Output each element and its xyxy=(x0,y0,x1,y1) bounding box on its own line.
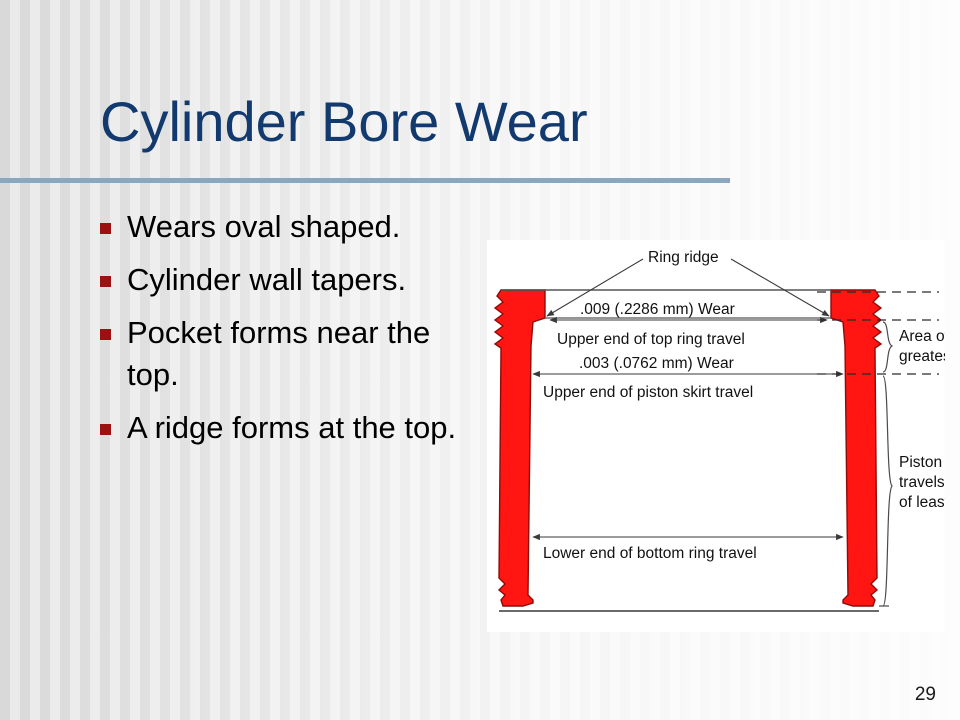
label-piston-skirt-line3: of least wear xyxy=(899,494,945,511)
label-ring-ridge: Ring ridge xyxy=(648,249,719,266)
right-cylinder-wall xyxy=(831,290,881,606)
list-item: Pocket forms near the top. xyxy=(100,312,470,396)
label-piston-skirt-line2: travels in area xyxy=(899,474,945,491)
label-wear-009: .009 (.2286 mm) Wear xyxy=(580,301,735,318)
label-lower-bottom-ring-travel: Lower end of bottom ring travel xyxy=(543,545,757,562)
label-area-greatest-wear-line1: Area of xyxy=(899,328,945,345)
brace-piston-skirt-least-wear xyxy=(883,376,892,606)
bullet-square-icon xyxy=(100,276,111,287)
bullet-square-icon xyxy=(100,424,111,435)
list-item-label: Wears oval shaped. xyxy=(127,206,470,248)
page-number: 29 xyxy=(915,684,936,706)
list-item-label: Cylinder wall tapers. xyxy=(127,259,470,301)
page-title: Cylinder Bore Wear xyxy=(100,92,588,152)
label-wear-003: .003 (.0762 mm) Wear xyxy=(579,355,734,372)
brace-area-greatest-wear xyxy=(883,322,892,372)
left-cylinder-wall xyxy=(495,290,545,606)
bullet-square-icon xyxy=(100,329,111,340)
list-item-label: Pocket forms near the top. xyxy=(127,312,470,396)
title-divider xyxy=(0,178,730,183)
label-upper-top-ring-travel: Upper end of top ring travel xyxy=(557,331,745,348)
list-item: Wears oval shaped. xyxy=(100,206,470,248)
cylinder-bore-wear-diagram: Ring ridge .009 (.2286 mm) Wear Upper en… xyxy=(487,240,945,632)
bullet-square-icon xyxy=(100,223,111,234)
list-item: Cylinder wall tapers. xyxy=(100,259,470,301)
label-area-greatest-wear-line2: greatest wear xyxy=(899,348,945,365)
label-piston-skirt-line1: Piston skirt xyxy=(899,454,945,471)
list-item: A ridge forms at the top. xyxy=(100,407,470,449)
list-item-label: A ridge forms at the top. xyxy=(127,407,470,449)
diagram-canvas: Ring ridge .009 (.2286 mm) Wear Upper en… xyxy=(487,240,945,632)
ring-ridge-leader-right xyxy=(731,259,829,316)
bullet-list: Wears oval shaped. Cylinder wall tapers.… xyxy=(100,206,470,460)
label-upper-piston-skirt-travel: Upper end of piston skirt travel xyxy=(543,384,753,401)
